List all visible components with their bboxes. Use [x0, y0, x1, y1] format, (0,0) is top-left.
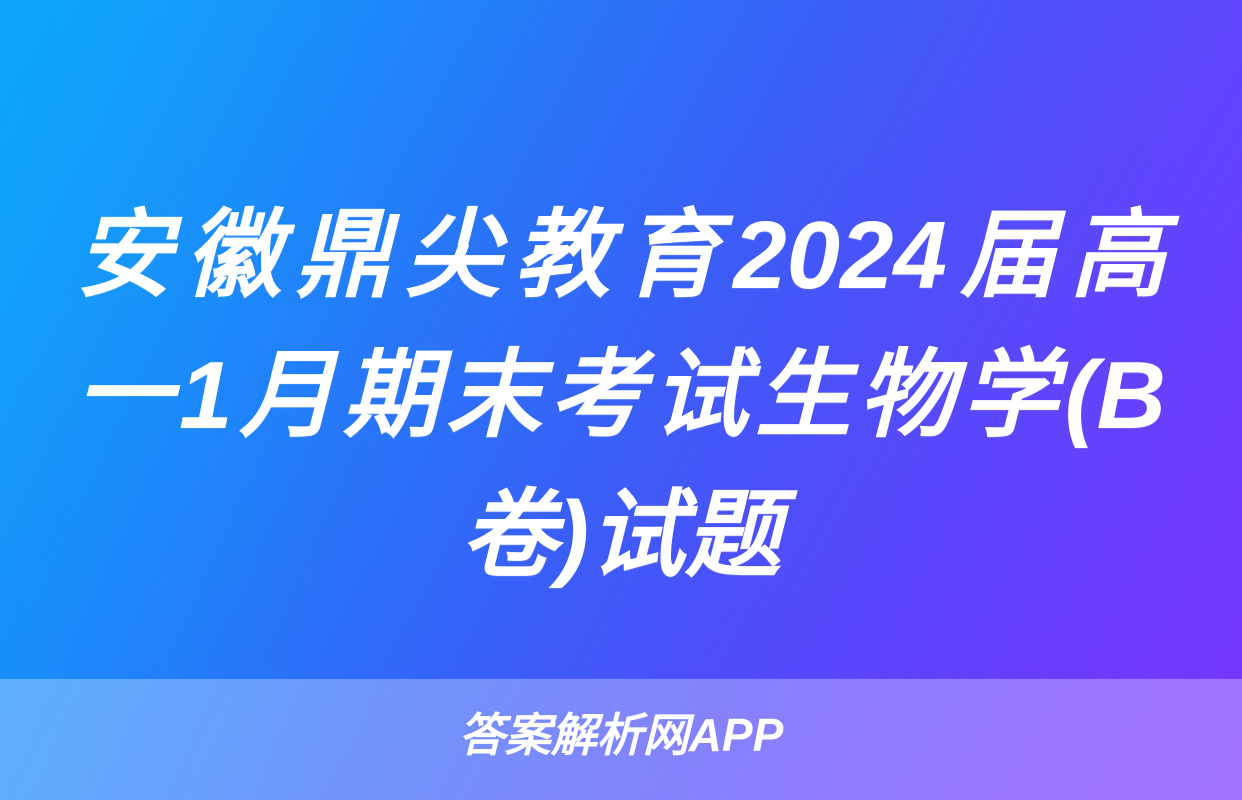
exam-cover-card: 安 徽 鼎 尖 教 育 2024 届 高 一 1 月 期 末 考 试 生 物 学… — [0, 0, 1242, 800]
title-line-3: 卷 ) 试 题 — [76, 466, 1166, 606]
title-char: 尖 — [405, 186, 501, 326]
title-char: 月 — [240, 326, 336, 466]
title-char: 试 — [652, 326, 748, 466]
title-char: 学 — [962, 326, 1058, 466]
title-char: 安 — [76, 186, 172, 326]
title-char: 物 — [858, 326, 954, 466]
title-char: 一 — [76, 326, 172, 466]
title-char: 徽 — [186, 186, 282, 326]
title-line-2: 一 1 月 期 末 考 试 生 物 学 (B — [76, 326, 1166, 466]
title-char: 试 — [589, 466, 685, 606]
app-watermark: 答案解析网APP — [0, 704, 1242, 760]
title-line-1: 安 徽 鼎 尖 教 育 2024 届 高 — [76, 186, 1166, 326]
title-char: 鼎 — [295, 186, 391, 326]
title-char: 教 — [514, 186, 610, 326]
title-char: 卷 — [461, 466, 557, 606]
title-char: 题 — [685, 466, 781, 606]
title-char: 末 — [446, 326, 542, 466]
title-char: 育 — [624, 186, 720, 326]
page-title: 安 徽 鼎 尖 教 育 2024 届 高 一 1 月 期 末 考 试 生 物 学… — [76, 186, 1166, 606]
title-char: 届 — [960, 186, 1056, 326]
title-char: 生 — [755, 326, 851, 466]
title-char: 期 — [343, 326, 439, 466]
title-char: 高 — [1070, 186, 1166, 326]
title-char: 1 — [179, 326, 232, 466]
title-char: 考 — [549, 326, 645, 466]
title-year: 2024 — [733, 186, 947, 326]
app-watermark-label: 答案解析网APP — [459, 699, 784, 765]
title-char: ) — [557, 466, 589, 606]
title-paper-version: (B — [1065, 326, 1166, 466]
